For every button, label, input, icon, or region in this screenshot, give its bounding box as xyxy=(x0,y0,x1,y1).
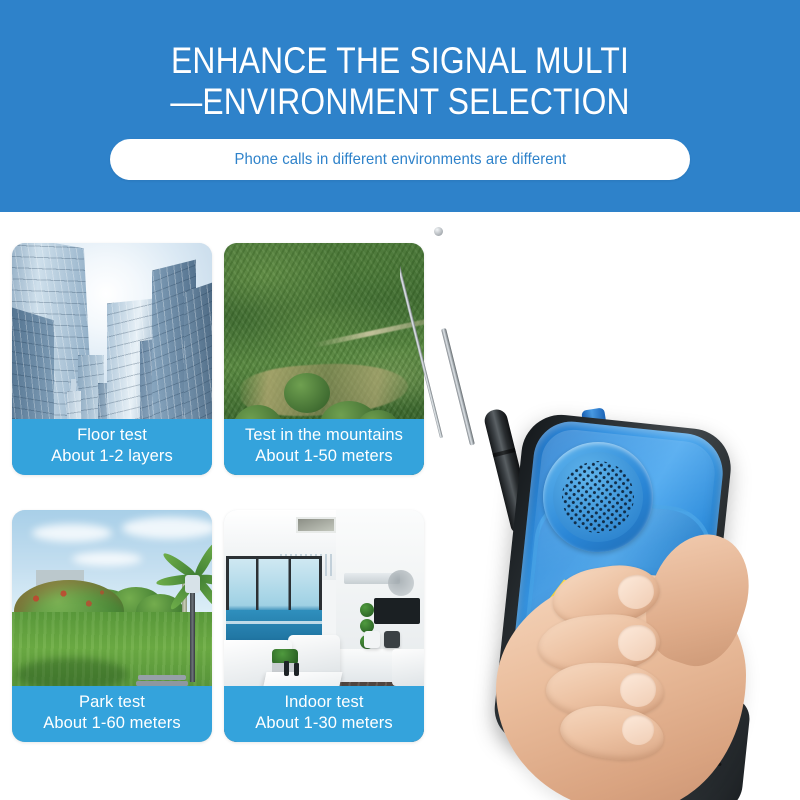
environment-card-mountain-test[interactable]: Test in the mountains About 1-50 meters xyxy=(224,243,424,475)
product-photo-walkie-talkie: WALKIE TALKIE xyxy=(400,215,800,800)
environment-card-grid: Floor test About 1-2 layers Test in the … xyxy=(12,243,432,748)
card-caption-line1: Park test xyxy=(16,692,208,713)
card-caption-line1: Test in the mountains xyxy=(228,425,420,446)
environment-card-floor-test[interactable]: Floor test About 1-2 layers xyxy=(12,243,212,475)
header-banner: ENHANCE THE SIGNAL MULTI —ENVIRONMENT SE… xyxy=(0,0,800,212)
card-caption-line1: Floor test xyxy=(16,425,208,446)
card-caption: Floor test About 1-2 layers xyxy=(12,419,212,475)
lamp-post-icon xyxy=(190,589,195,682)
card-caption-line2: About 1-2 layers xyxy=(16,446,208,467)
environment-card-indoor-test[interactable]: Indoor test About 1-30 meters xyxy=(224,510,424,742)
subtitle-text: Phone calls in different environments ar… xyxy=(234,151,566,169)
card-caption-line1: Indoor test xyxy=(228,692,420,713)
page-title: ENHANCE THE SIGNAL MULTI —ENVIRONMENT SE… xyxy=(56,40,744,122)
card-caption-line2: About 1-60 meters xyxy=(16,713,208,734)
card-caption: Indoor test About 1-30 meters xyxy=(224,686,424,742)
subtitle-pill: Phone calls in different environments ar… xyxy=(110,139,690,180)
card-caption-line2: About 1-50 meters xyxy=(228,446,420,467)
card-caption-line2: About 1-30 meters xyxy=(228,713,420,734)
hand-holding-device xyxy=(400,215,800,800)
card-caption: Park test About 1-60 meters xyxy=(12,686,212,742)
card-caption: Test in the mountains About 1-50 meters xyxy=(224,419,424,475)
environment-card-park-test[interactable]: Park test About 1-60 meters xyxy=(12,510,212,742)
